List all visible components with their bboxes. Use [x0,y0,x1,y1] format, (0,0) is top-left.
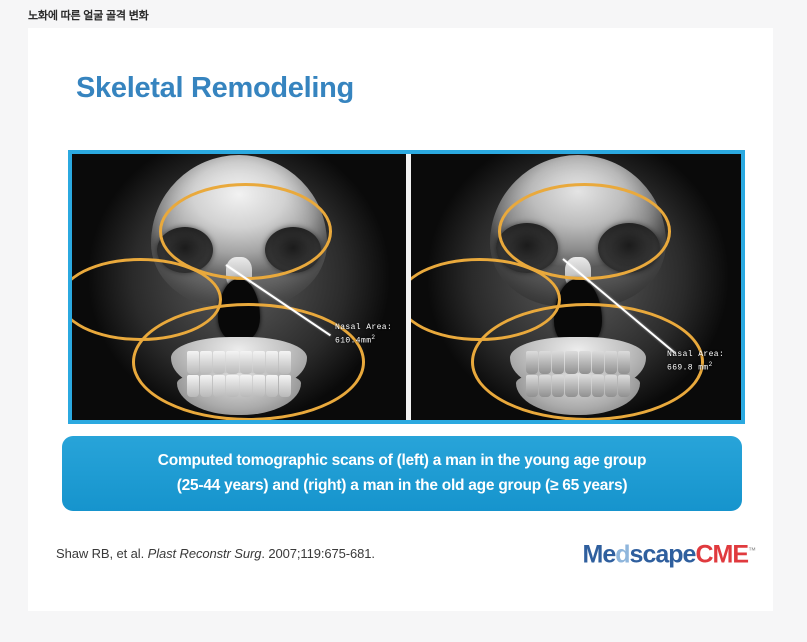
citation-authors: Shaw RB, et al. [56,546,144,561]
teeth-shape [526,351,630,397]
logo-part-d: d [615,540,629,568]
medscape-cme-logo: MedscapeCME™ [583,536,755,569]
nasal-area-callout: Nasal Area: 669.8 mm2 [667,350,724,374]
citation-details: . 2007;119:675-681. [261,546,375,561]
logo-part-me: Me [583,540,616,568]
orbit-left-shape [496,223,558,273]
document-header-caption: 노화에 따른 얼굴 골격 변화 [28,9,149,23]
nasal-area-callout-value: 669.8 mm2 [667,360,724,374]
orbit-right-shape [265,227,321,273]
figure-caption-banner: Computed tomographic scans of (left) a m… [62,436,742,511]
skull-render-young [141,161,337,413]
slide-card: Skeletal Remodeling [28,28,773,611]
ct-figure-frame: Nasal Area: 610.4mm2 [68,150,745,424]
ct-scan-pane-young: Nasal Area: 610.4mm2 [72,154,406,420]
orbit-right-shape [598,223,660,273]
page-title: Skeletal Remodeling [76,72,354,105]
nasal-area-callout-value: 610.4mm2 [335,333,392,347]
skull-render-old [480,161,676,413]
orbit-left-shape [157,227,213,273]
ct-scan-pane-old: Nasal Area: 669.8 mm2 [411,154,745,420]
teeth-shape [187,351,291,397]
logo-part-cme: CME [695,540,748,568]
citation-journal: Plast Reconstr Surg [148,546,262,561]
citation: Shaw RB, et al. Plast Reconstr Surg. 200… [56,546,375,561]
nasal-area-callout: Nasal Area: 610.4mm2 [335,323,392,347]
caption-line-1: Computed tomographic scans of (left) a m… [78,448,726,473]
logo-part-scape: scape [630,540,696,568]
nasal-area-callout-title: Nasal Area: [667,350,724,360]
nasal-area-callout-title: Nasal Area: [335,323,392,333]
logo-trademark: ™ [748,546,755,555]
caption-line-2: (25-44 years) and (right) a man in the o… [78,473,726,498]
